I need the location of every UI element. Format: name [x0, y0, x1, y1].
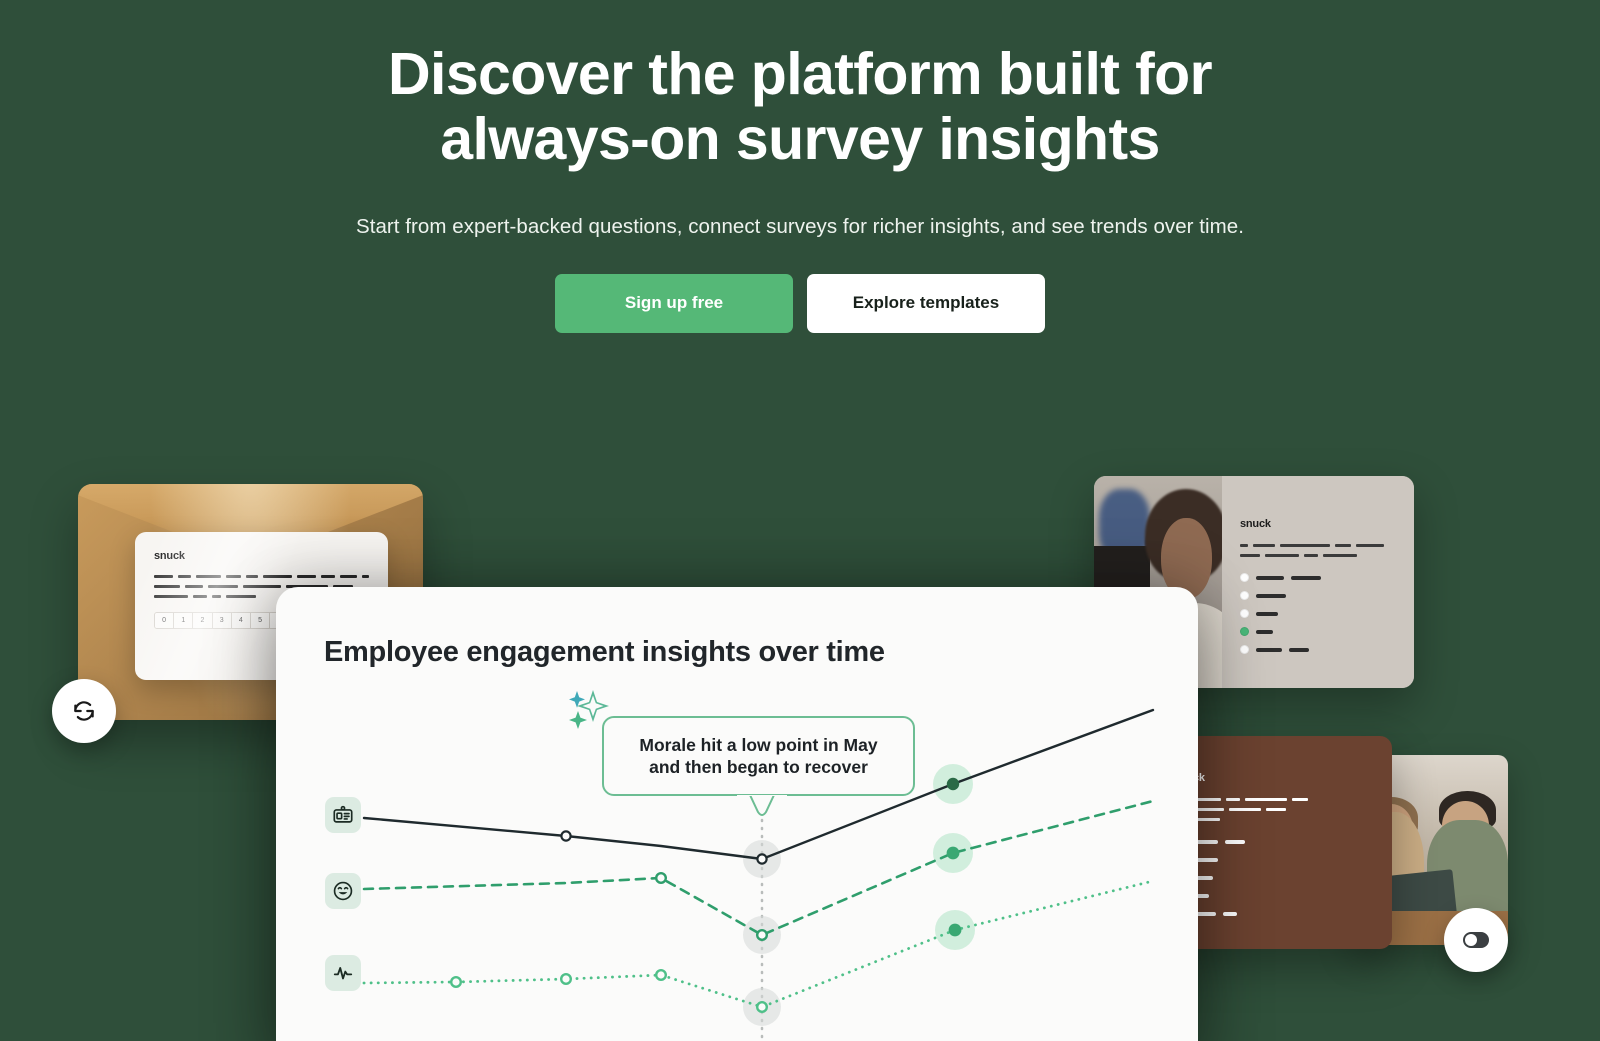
pulse-icon [332, 962, 354, 984]
series-icon-employee-profile[interactable] [325, 797, 361, 833]
option-row-selected[interactable] [1240, 627, 1396, 636]
placeholder-text-row [1174, 808, 1370, 811]
placeholder-text-row [154, 575, 369, 578]
hero-collage: snuck 012345678910 [0, 0, 1600, 1041]
top-right-card-body: snuck [1222, 476, 1414, 688]
callout-tail [736, 795, 788, 821]
nps-scale-cell[interactable]: 3 [213, 613, 232, 628]
placeholder-text-row [1174, 798, 1370, 801]
callout-line-2: and then began to recover [649, 757, 868, 777]
option-row[interactable] [1240, 573, 1396, 582]
refresh-button[interactable] [52, 679, 116, 743]
placeholder-text-row [1174, 818, 1370, 821]
option-row[interactable] [1240, 591, 1396, 600]
placeholder-text-row [1240, 544, 1396, 547]
contrast-toggle-icon [1460, 924, 1492, 956]
nps-scale-cell[interactable]: 0 [155, 613, 174, 628]
refresh-icon [71, 698, 97, 724]
snuck-logo: snuck [154, 550, 369, 562]
option-row[interactable] [1180, 873, 1370, 882]
option-row[interactable] [1180, 891, 1370, 900]
nps-scale-cell[interactable]: 5 [251, 613, 270, 628]
option-row[interactable] [1240, 645, 1396, 654]
snuck-logo: snuck [1174, 772, 1370, 784]
series-icon-pulse-activity[interactable] [325, 955, 361, 991]
option-row[interactable] [1240, 609, 1396, 618]
nps-scale-cell[interactable]: 2 [193, 613, 212, 628]
snuck-logo: snuck [1240, 518, 1396, 530]
contrast-toggle-button[interactable] [1444, 908, 1508, 972]
chart-annotation-callout: Morale hit a low point in May and then b… [602, 716, 915, 796]
nps-scale-cell[interactable]: 1 [174, 613, 193, 628]
chart-title: Employee engagement insights over time [324, 636, 885, 669]
placeholder-text-row [1240, 554, 1396, 557]
callout-line-1: Morale hit a low point in May [639, 735, 877, 755]
option-row[interactable] [1180, 855, 1370, 864]
smiley-icon [332, 880, 354, 902]
option-row-selected[interactable] [1180, 909, 1370, 918]
nps-scale-cell[interactable]: 4 [232, 613, 251, 628]
series-icon-sentiment[interactable] [325, 873, 361, 909]
id-badge-icon [332, 804, 354, 826]
option-row[interactable] [1180, 837, 1370, 846]
